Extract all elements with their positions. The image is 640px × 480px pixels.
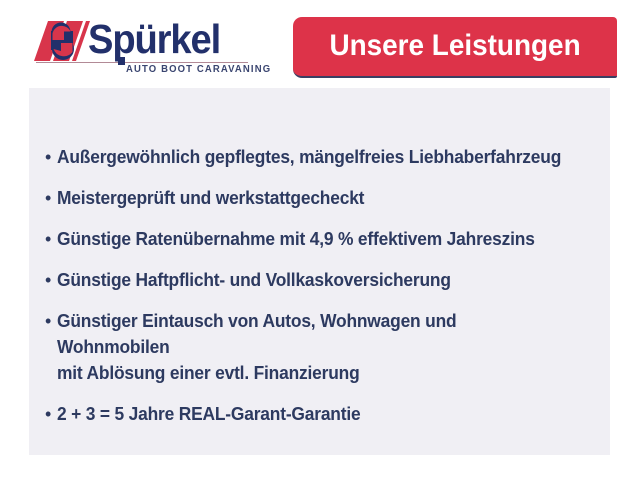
content-panel: • Außergewöhnlich gepflegtes, mängelfrei… bbox=[29, 88, 610, 455]
bullet-dot-icon: • bbox=[45, 401, 57, 427]
list-item-label: 2 + 3 = 5 Jahre REAL-Garant-Garantie bbox=[57, 401, 572, 427]
bullet-dot-icon: • bbox=[45, 185, 57, 211]
services-list: • Außergewöhnlich gepflegtes, mängelfrei… bbox=[45, 144, 605, 427]
title-banner: Unsere Leistungen bbox=[293, 17, 617, 78]
list-item: • 2 + 3 = 5 Jahre REAL-Garant-Garantie bbox=[45, 401, 605, 427]
bullet-dot-icon: • bbox=[45, 144, 57, 170]
bullet-dot-icon: • bbox=[45, 226, 57, 252]
bullet-dot-icon: • bbox=[45, 308, 57, 334]
list-item: • Außergewöhnlich gepflegtes, mängelfrei… bbox=[45, 144, 605, 170]
logo-subtitle: AUTO BOOT CARAVANING bbox=[126, 64, 271, 75]
logo-divider-line bbox=[36, 62, 248, 63]
slide-header: Spürkel AUTO BOOT CARAVANING Unsere Leis… bbox=[0, 0, 640, 88]
list-item: • Günstige Haftpflicht- und Vollkaskover… bbox=[45, 267, 605, 293]
logo-divider-square bbox=[118, 57, 125, 65]
slide-root: Spürkel AUTO BOOT CARAVANING Unsere Leis… bbox=[0, 0, 640, 480]
list-item-label: Günstige Ratenübernahme mit 4,9 % effekt… bbox=[57, 226, 572, 252]
list-item: • Günstige Ratenübernahme mit 4,9 % effe… bbox=[45, 226, 605, 252]
page-title: Unsere Leistungen bbox=[329, 29, 580, 63]
logo-wordmark: Spürkel bbox=[88, 13, 220, 65]
company-logo: Spürkel AUTO BOOT CARAVANING bbox=[34, 17, 260, 79]
spuerkel-s-mark-icon bbox=[34, 19, 90, 63]
list-item-label: Günstige Haftpflicht- und Vollkaskoversi… bbox=[57, 267, 572, 293]
list-item: • Meistergeprüft und werkstattgecheckt bbox=[45, 185, 605, 211]
list-item-label: Meistergeprüft und werkstattgecheckt bbox=[57, 185, 572, 211]
list-item: • Günstiger Eintausch von Autos, Wohnwag… bbox=[45, 308, 605, 386]
list-item-label: Außergewöhnlich gepflegtes, mängelfreies… bbox=[57, 144, 572, 170]
bullet-dot-icon: • bbox=[45, 267, 57, 293]
list-item-label: Günstiger Eintausch von Autos, Wohnwagen… bbox=[57, 308, 572, 386]
